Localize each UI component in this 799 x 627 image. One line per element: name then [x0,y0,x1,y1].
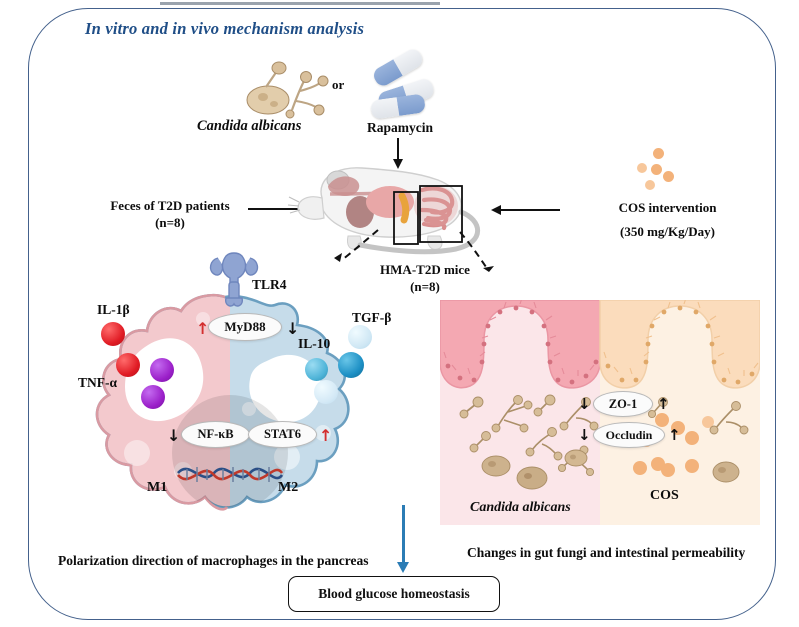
nfkb-down-arrow-icon: ↓ [167,428,180,444]
occludin-up-arrow-icon: ↑ [668,428,681,443]
gut-cos-label: COS [650,488,679,504]
figure-canvas: In vitro and in vivo mechanism analysis … [0,0,799,627]
blood-glucose-homeostasis-box: Blood glucose homeostasis [288,576,500,612]
occludin-down-arrow-icon: ↓ [578,428,591,443]
hma-t2d-mice-label-line1: HMA-T2D mice [340,263,510,278]
gut-candida-label: Candida albicans [470,500,571,516]
top-rule-divider [160,2,440,5]
feces-input-label-line2: (n=8) [85,216,255,231]
nfkb-node: NF-κB [181,421,250,448]
macrophage-panel-caption: Polarization direction of macrophages in… [58,553,368,569]
myd88-down-arrow-icon: ↓ [286,321,299,337]
outcome-arrow-icon [402,505,405,563]
zo1-up-arrow-icon: ↑ [657,397,670,412]
feces-input-label-line1: Feces of T2D patients [85,199,255,214]
m2-label: M2 [278,480,298,496]
stat6-up-arrow-icon: ↑ [319,428,332,444]
candida-albicans-label: Candida albicans [197,118,301,135]
rapamycin-label: Rapamycin [367,120,433,136]
gut-panel-caption: Changes in gut fungi and intestinal perm… [467,545,745,561]
occludin-node: Occludin [593,422,665,448]
m1-label: M1 [147,480,167,496]
tnfa-label: TNF-α [78,375,117,391]
tlr4-label: TLR4 [252,277,287,293]
myd88-node: MyD88 [208,313,282,341]
arrow-left-icon [500,209,560,211]
il1b-label: IL-1β [97,302,130,318]
cos-intervention-label-line2: (350 mg/Kg/Day) [580,225,755,240]
cos-intervention-label-line1: COS intervention [580,201,755,216]
zo1-node: ZO-1 [593,391,653,417]
or-label: or [332,78,344,93]
il10-label: IL-10 [298,336,330,352]
zo1-down-arrow-icon: ↓ [578,397,591,412]
tgfb-label: TGF-β [352,310,391,326]
figure-title: In vitro and in vivo mechanism analysis [85,20,364,39]
stat6-node: STAT6 [248,421,317,448]
